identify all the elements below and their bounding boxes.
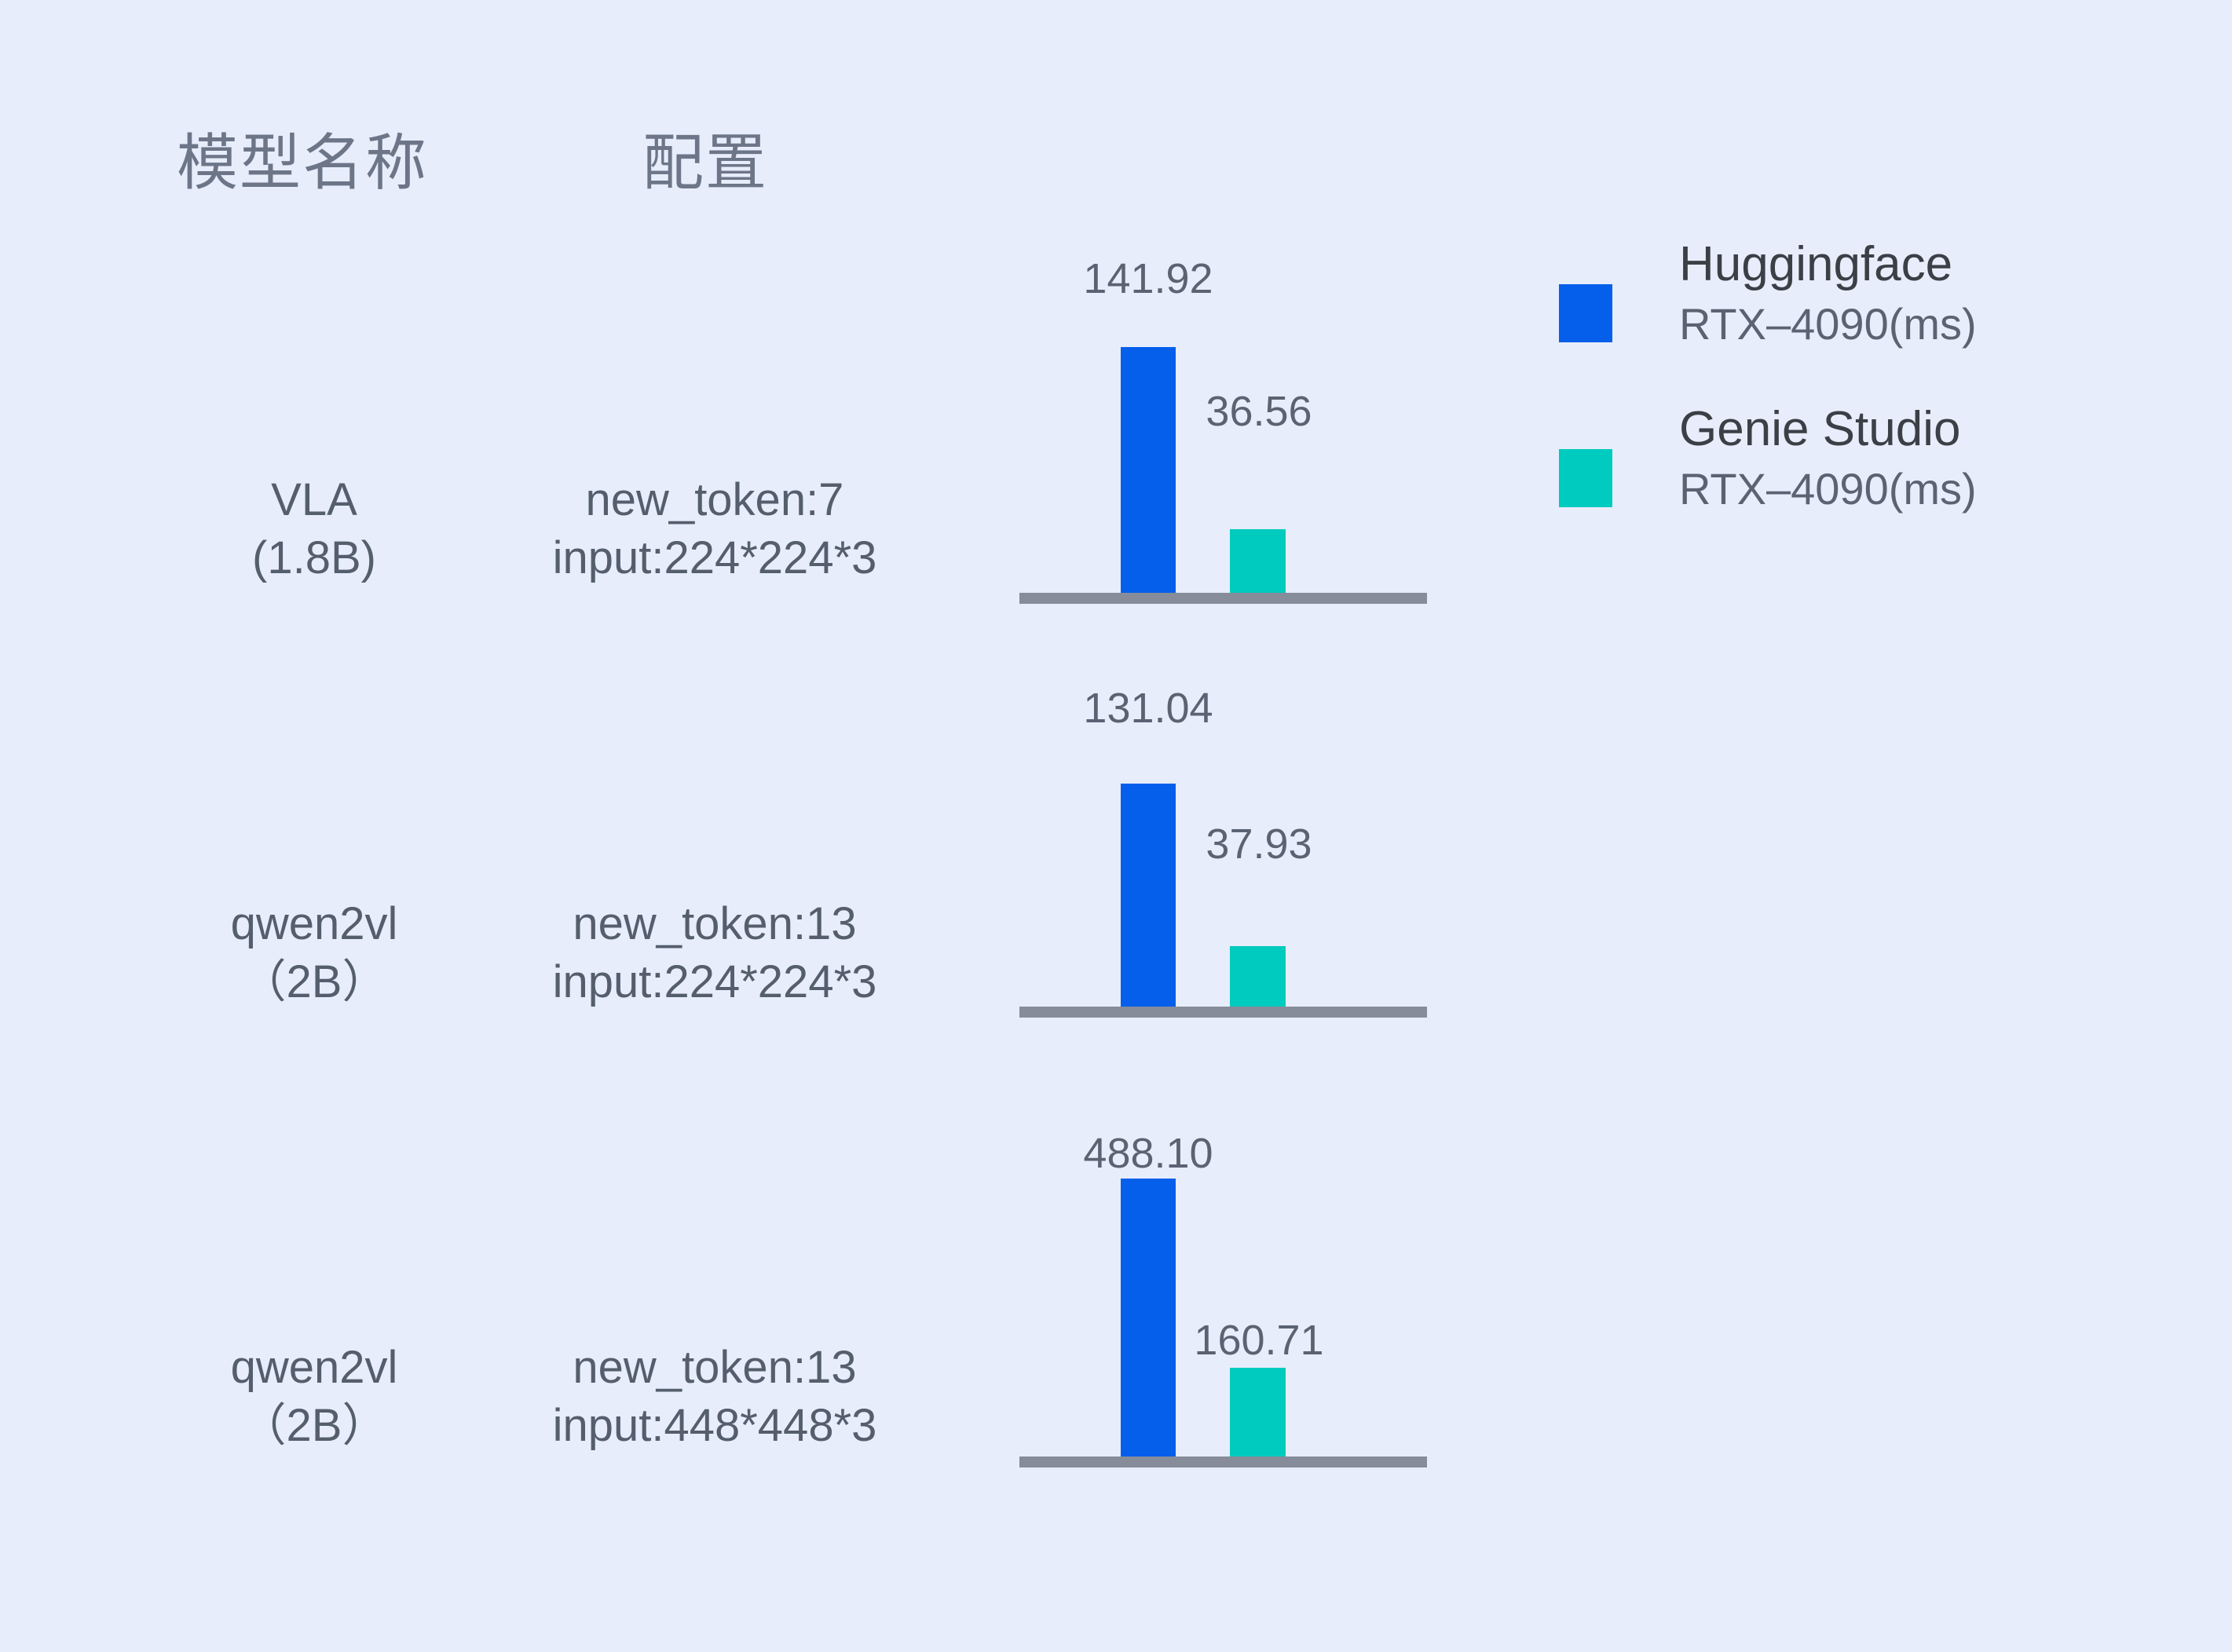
row-config-line2: input:224*224*3 xyxy=(440,953,990,1011)
row-config-line2: input:224*224*3 xyxy=(440,529,990,587)
row-config-line1: new_token:13 xyxy=(573,898,856,949)
row-model-label: qwen2vl （2B） xyxy=(149,895,479,1011)
legend-title-genie-studio: Genie Studio xyxy=(1679,400,1977,458)
legend-text-huggingface: Huggingface RTX–4090(ms) xyxy=(1679,236,1977,351)
legend-item-huggingface[interactable]: Huggingface RTX–4090(ms) xyxy=(1551,236,2195,400)
row-model-line1: qwen2vl xyxy=(231,1342,398,1393)
row-config-line2: input:448*448*3 xyxy=(440,1397,990,1455)
row-plot: 141.92 36.56 xyxy=(1019,236,1427,593)
plot-baseline xyxy=(1019,1456,1427,1467)
row-config-label: new_token:13 input:448*448*3 xyxy=(440,1339,990,1455)
row-plot: 488.10 160.71 xyxy=(1019,1115,1427,1456)
bar-huggingface[interactable] xyxy=(1121,347,1176,593)
bar-value-genie-studio: 36.56 xyxy=(1165,390,1353,433)
row-model-label: VLA (1.8B) xyxy=(149,471,479,587)
row-model-line1: qwen2vl xyxy=(231,898,398,949)
legend-swatch-huggingface xyxy=(1559,284,1612,342)
row-model-label: qwen2vl （2B） xyxy=(149,1339,479,1455)
chart-canvas: 模型名称 配置 VLA (1.8B) new_token:7 input:224… xyxy=(0,0,2232,1652)
plot-baseline xyxy=(1019,593,1427,604)
row-config-line1: new_token:13 xyxy=(573,1342,856,1393)
row-model-line2: (1.8B) xyxy=(149,529,479,587)
row-config-line1: new_token:7 xyxy=(586,474,844,525)
chart-legend: Huggingface RTX–4090(ms) Genie Studio RT… xyxy=(1551,236,2195,565)
legend-swatch-genie-studio xyxy=(1559,449,1612,507)
bar-value-huggingface: 141.92 xyxy=(1054,258,1242,300)
row-model-line2: （2B） xyxy=(149,1397,479,1455)
row-model-line1: VLA xyxy=(271,474,357,525)
bar-genie-studio[interactable] xyxy=(1230,946,1286,1007)
bar-genie-studio[interactable] xyxy=(1230,1368,1286,1456)
bar-value-genie-studio: 37.93 xyxy=(1165,823,1353,865)
bar-genie-studio[interactable] xyxy=(1230,529,1286,593)
column-header-model-name: 模型名称 xyxy=(177,132,428,193)
legend-title-huggingface: Huggingface xyxy=(1679,236,1977,293)
bar-huggingface[interactable] xyxy=(1121,784,1176,1007)
row-config-label: new_token:13 input:224*224*3 xyxy=(440,895,990,1011)
column-header-config: 配置 xyxy=(642,132,768,193)
plot-baseline xyxy=(1019,1007,1427,1018)
legend-subtitle-huggingface: RTX–4090(ms) xyxy=(1679,298,1977,351)
row-plot: 131.04 37.93 xyxy=(1019,671,1427,1007)
legend-subtitle-genie-studio: RTX–4090(ms) xyxy=(1679,462,1977,516)
bar-value-huggingface: 131.04 xyxy=(1054,687,1242,729)
row-config-label: new_token:7 input:224*224*3 xyxy=(440,471,990,587)
bar-value-genie-studio: 160.71 xyxy=(1165,1319,1353,1361)
legend-item-genie-studio[interactable]: Genie Studio RTX–4090(ms) xyxy=(1551,400,2195,565)
row-model-line2: （2B） xyxy=(149,953,479,1011)
legend-text-genie-studio: Genie Studio RTX–4090(ms) xyxy=(1679,400,1977,516)
bar-value-huggingface: 488.10 xyxy=(1054,1132,1242,1175)
